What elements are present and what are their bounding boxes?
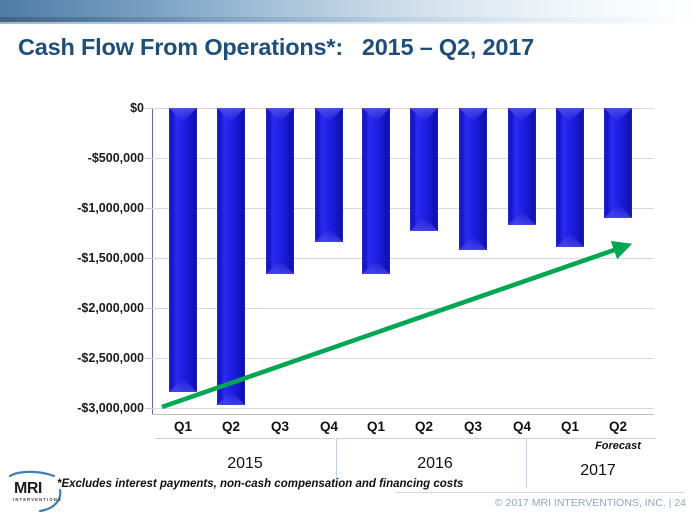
group-underline-2017 <box>526 438 656 439</box>
bar[interactable] <box>217 108 245 405</box>
y-axis-tick <box>145 158 152 159</box>
x-axis-label: Q2 <box>594 419 642 434</box>
y-tick-label: -$500,000 <box>36 151 144 165</box>
bar[interactable] <box>266 108 294 274</box>
x-axis-line <box>152 414 654 415</box>
gridline <box>152 408 654 409</box>
group-underline-2015 <box>155 438 335 439</box>
y-tick-label: -$3,000,000 <box>36 401 144 415</box>
bar[interactable] <box>315 108 343 242</box>
forecast-note: Forecast <box>583 440 653 452</box>
group-label-2016: 2016 <box>385 455 485 473</box>
y-axis-tick <box>145 408 152 409</box>
x-axis-label: Q2 <box>207 419 255 434</box>
x-axis-label: Q3 <box>449 419 497 434</box>
bar[interactable] <box>410 108 438 231</box>
y-axis-tick <box>145 308 152 309</box>
y-axis-labels: $0 -$500,000 -$1,000,000 -$1,500,000 -$2… <box>36 108 144 414</box>
y-tick-label: -$1,500,000 <box>36 251 144 265</box>
page-title: Cash Flow From Operations*: 2015 – Q2, 2… <box>18 34 534 61</box>
copyright-text: © 2017 MRI INTERVENTIONS, INC. | 24 <box>495 497 686 509</box>
x-axis-label: Q2 <box>400 419 448 434</box>
group-label-2015: 2015 <box>195 455 295 473</box>
y-axis-line <box>152 108 153 414</box>
y-tick-label: -$1,000,000 <box>36 201 144 215</box>
footnote: *Excludes interest payments, non-cash co… <box>57 478 463 490</box>
mri-logo: MRI INTERVENTIONS <box>8 470 66 516</box>
bar[interactable] <box>508 108 536 225</box>
x-axis-label: Q4 <box>305 419 353 434</box>
y-axis-tick <box>145 208 152 209</box>
y-tick-label: $0 <box>36 101 144 115</box>
logo-wordmark: MRI <box>14 480 42 498</box>
bar[interactable] <box>604 108 632 218</box>
header-band <box>0 0 700 17</box>
x-axis-label: Q1 <box>352 419 400 434</box>
logo-tagline: INTERVENTIONS <box>13 497 62 502</box>
footer-divider <box>395 492 685 493</box>
x-axis-label: Q1 <box>546 419 594 434</box>
bar[interactable] <box>169 108 197 392</box>
slide-canvas: Cash Flow From Operations*: 2015 – Q2, 2… <box>0 0 700 525</box>
y-tick-label: -$2,500,000 <box>36 351 144 365</box>
group-label-2017: 2017 <box>548 462 648 480</box>
header-band-hairline <box>0 22 700 24</box>
bar[interactable] <box>459 108 487 250</box>
y-tick-label: -$2,000,000 <box>36 301 144 315</box>
group-underline-2016 <box>336 438 526 439</box>
y-axis-tick <box>145 358 152 359</box>
bar[interactable] <box>362 108 390 274</box>
group-separator-2 <box>526 438 527 488</box>
y-axis-tick <box>145 258 152 259</box>
x-axis-label: Q3 <box>256 419 304 434</box>
x-axis-label: Q4 <box>498 419 546 434</box>
x-axis-label: Q1 <box>159 419 207 434</box>
bar[interactable] <box>556 108 584 247</box>
chart-plot-area <box>152 108 654 413</box>
y-axis-tick <box>145 108 152 109</box>
